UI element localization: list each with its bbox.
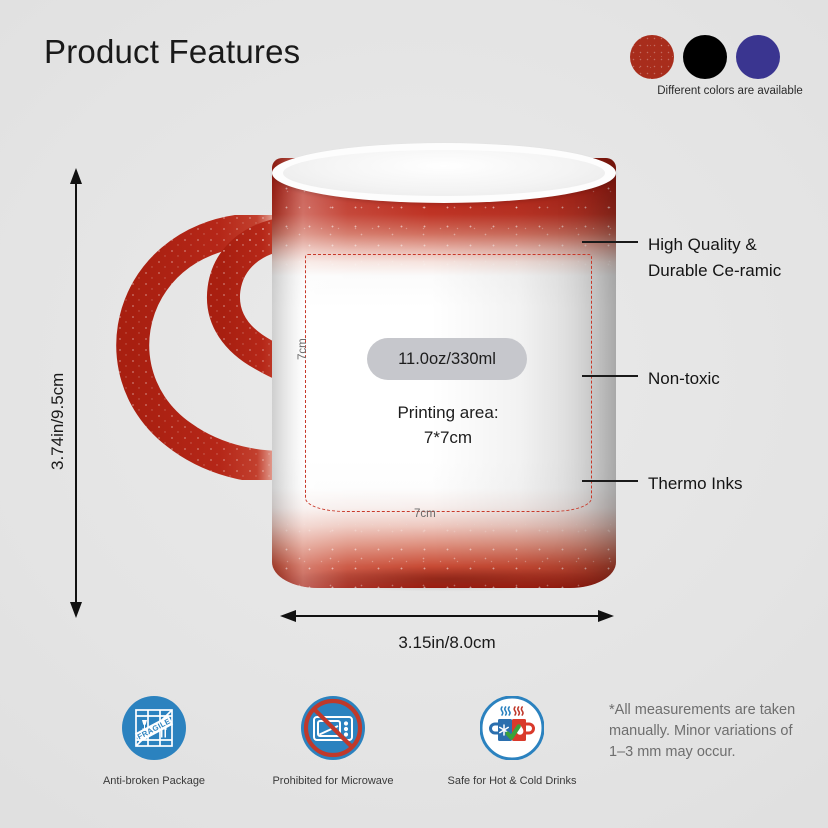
height-dimension-label: 3.74in/9.5cm (48, 373, 68, 470)
callout-leader-line (582, 480, 638, 482)
feature-hot-cold-safe: Safe for Hot & Cold Drinks (424, 696, 600, 787)
printing-width-label: 7cm (414, 508, 436, 520)
mug-interior (283, 150, 605, 196)
feature-label: Prohibited for Microwave (245, 775, 421, 787)
callout-leader-line (582, 241, 638, 243)
heart-handle-icon (78, 215, 328, 480)
swatch-caption: Different colors are available (632, 85, 828, 97)
callout-high-quality-ceramic: High Quality & Durable Ce-ramic (582, 232, 798, 284)
hot-cold-safe-icon (480, 696, 544, 760)
page-title: Product Features (44, 33, 300, 71)
callout-label: Non-toxic (648, 366, 720, 392)
feature-prohibited-microwave: Prohibited for Microwave (245, 696, 421, 787)
callout-thermo-inks: Thermo Inks (582, 471, 742, 497)
color-swatch-blue[interactable] (736, 35, 780, 79)
mug-gloss-highlight (272, 158, 616, 588)
capacity-badge: 11.0oz/330ml (367, 338, 527, 380)
product-features-infographic: Product Features Different colors are av… (0, 0, 828, 828)
feature-label: Anti-broken Package (66, 775, 242, 787)
callout-label: High Quality & Durable Ce-ramic (648, 232, 798, 284)
callout-non-toxic: Non-toxic (582, 366, 720, 392)
color-swatch-red[interactable] (630, 35, 674, 79)
swatch-speckle-texture (630, 35, 674, 79)
printing-area-label: Printing area: 7*7cm (345, 400, 551, 450)
printing-area-title: Printing area: (345, 400, 551, 425)
mug-rim (272, 143, 616, 203)
printing-area-size: 7*7cm (345, 425, 551, 450)
color-swatch-black[interactable] (683, 35, 727, 79)
no-microwave-icon (301, 696, 365, 760)
feature-label: Safe for Hot & Cold Drinks (424, 775, 600, 787)
height-dimension-arrow (66, 168, 86, 618)
fragile-crate-icon: FRAGILE (122, 696, 186, 760)
color-swatch-group (630, 33, 780, 81)
mug-drop-shadow (286, 566, 602, 592)
feature-anti-broken-package: FRAGILE Anti-broken Package (66, 696, 242, 787)
width-dimension-arrow (280, 607, 614, 625)
callout-label: Thermo Inks (648, 471, 742, 497)
printing-area-boundary (305, 254, 592, 512)
mug-speckle-texture (272, 158, 616, 588)
callout-leader-line (582, 375, 638, 377)
mug-body (272, 158, 616, 588)
feature-badge-row: FRAGILE Anti-broken Package (46, 696, 576, 796)
printing-height-label: 7cm (297, 338, 309, 360)
measurement-footnote: *All measurements are taken manually. Mi… (609, 700, 799, 763)
width-dimension-label: 3.15in/8.0cm (280, 633, 614, 653)
